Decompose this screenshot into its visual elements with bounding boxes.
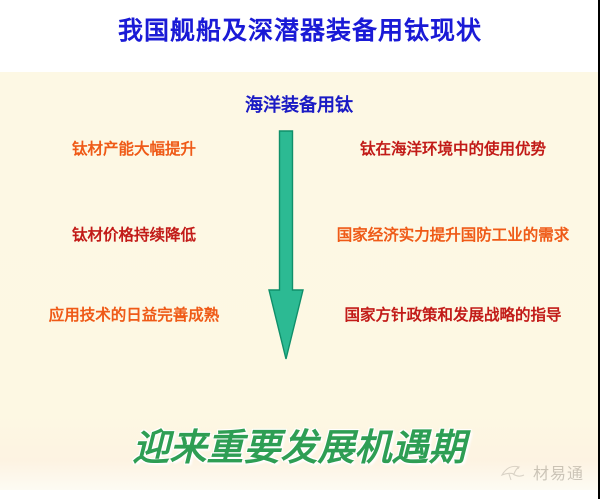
watermark-label: 材易通 — [533, 460, 584, 484]
factor-item: 钛材价格持续降低 — [8, 228, 260, 244]
page-title: 我国舰船及深潜器装备用钛现状 — [0, 11, 600, 47]
bird-logo-icon — [500, 462, 526, 482]
content-panel: 海洋装备用钛 钛材产能大幅提升 钛材价格持续降低 应用技术的日益完善成熟 钛在海… — [0, 72, 598, 490]
left-factor-column: 钛材产能大幅提升 钛材价格持续降低 应用技术的日益完善成熟 — [8, 128, 260, 418]
right-factor-column: 钛在海洋环境中的使用优势 国家经济实力提升国防工业的需求 国家方针政策和发展战略… — [312, 128, 594, 418]
factor-item: 钛在海洋环境中的使用优势 — [312, 142, 594, 158]
factor-item: 国家经济实力提升国防工业的需求 — [312, 228, 594, 244]
factor-item: 钛材产能大幅提升 — [8, 142, 260, 158]
factor-item: 应用技术的日益完善成熟 — [8, 308, 260, 324]
down-arrow-icon — [262, 130, 310, 360]
watermark: 材易通 — [500, 460, 584, 484]
factor-item: 国家方针政策和发展战略的指导 — [312, 308, 594, 324]
panel-heading: 海洋装备用钛 — [0, 91, 598, 117]
title-band: 我国舰船及深潜器装备用钛现状 — [0, 0, 600, 72]
slide-root: 我国舰船及深潜器装备用钛现状 海洋装备用钛 钛材产能大幅提升 钛材价格持续降低 … — [0, 0, 600, 499]
